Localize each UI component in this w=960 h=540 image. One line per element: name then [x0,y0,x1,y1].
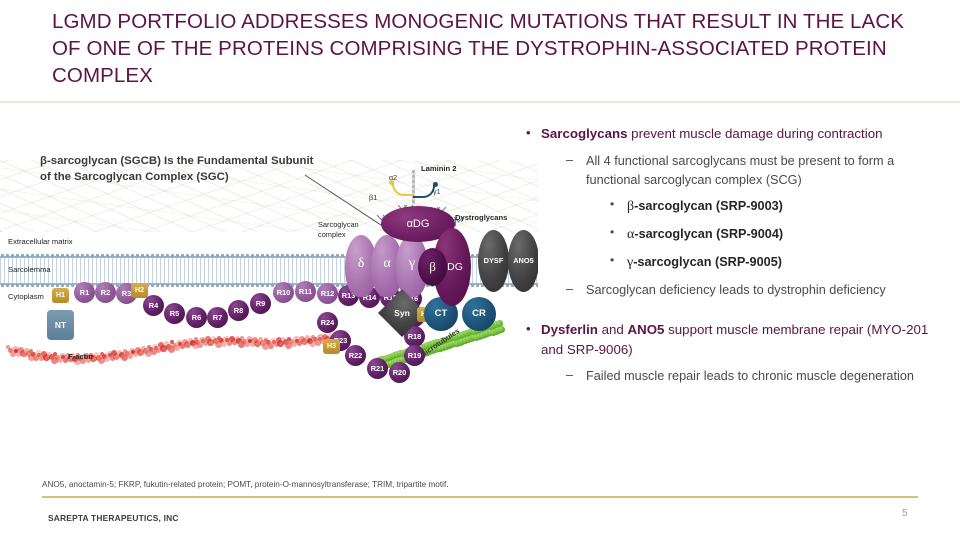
bullet-sarcoglycans-function: Sarcoglycans prevent muscle damage durin… [524,124,948,144]
page-title: LGMD PORTFOLIO ADDRESSES MONOGENIC MUTAT… [52,8,932,89]
dystrophin-repeat-r9: R9 [250,293,271,314]
anoctamin5-protein: ANO5 [508,230,538,292]
bullet-lead-sarcoglycans: Sarcoglycans [541,126,627,141]
bullet-lead-dysferlin: Dysferlin [541,322,598,337]
syntrophin-label: Syn [385,296,419,330]
dystrophin-repeat-r8: R8 [228,300,249,321]
dystrophin-repeat-r20: R20 [389,362,410,383]
dystrophin-repeat-r4: R4 [143,295,164,316]
bullet-text-sarcoglycans: prevent muscle damage during contraction [627,126,882,141]
sarcolemma-label: Sarcolemma [8,265,51,274]
dystrophin-repeat-r5: R5 [164,303,185,324]
bullet-text-srp-9003: -sarcoglycan (SRP-9003) [634,199,783,213]
dystrophin-n-terminus: NT [47,310,74,340]
dystrophin-repeat-r2: R2 [95,282,116,303]
dapc-diagram: β-sarcoglycan (SGCB) Is the Fundamental … [0,140,538,390]
dystrophin-repeat-r19: R19 [404,345,425,366]
bullet-spacer [524,307,948,320]
dystrophin-repeat-r21: R21 [367,358,388,379]
dystrophin-hinge-h3: H3 [323,339,340,354]
dystrophin-hinge-h1: H1 [52,288,69,303]
bullet-dysferlin-ano5: Dysferlin and ANO5 support muscle membra… [524,320,948,359]
laminin-alpha2-label: α2 [389,173,397,182]
dystrophin-repeat-r1: R1 [74,282,95,303]
dystrophin-repeat-r22: R22 [345,345,366,366]
bullet-lead-ano5: ANO5 [627,322,664,337]
dystrophin-repeat-r7: R7 [207,307,228,328]
dystrophin-repeat-r24: R24 [317,312,338,333]
laminin-label: Laminin 2 [421,164,456,173]
f-actin-label: F-actin [68,352,93,361]
bullet-text-srp-9005: -sarcoglycan (SRP-9005) [633,255,782,269]
page-number: 5 [902,508,908,519]
figure-caption: β-sarcoglycan (SGCB) Is the Fundamental … [40,154,320,185]
cytoplasm-label: Cytoplasm [8,292,44,301]
laminin-beta1-label: β1 [369,193,377,202]
dystrophin-cr-domain: CR [462,297,496,331]
bullet-srp-9003: β-sarcoglycan (SRP-9003) [608,197,948,216]
bullet-failed-repair: Failed muscle repair leads to chronic mu… [566,367,948,386]
dysferlin-protein: DYSF [478,230,509,292]
dystrophin-hinge-h2: H2 [131,283,148,298]
footer-divider [42,496,918,498]
bullet-srp-9005: γ-sarcoglycan (SRP-9005) [608,253,948,272]
dystrophin-repeat-r10: R10 [273,282,294,303]
actin-monomer [186,343,190,347]
dystroglycans-label: Dystroglycans [455,213,507,222]
bullet-text-srp-9004: -sarcoglycan (SRP-9004) [634,227,783,241]
bullet-deficiency-dystrophin: Sarcoglycan deficiency leads to dystroph… [566,281,948,300]
bullet-srp-9004: α-sarcoglycan (SRP-9004) [608,225,948,244]
bullet-all-four-required: All 4 functional sarcoglycans must be pr… [566,152,948,190]
dystrophin-repeat-r12: R12 [317,283,338,304]
bullet-mid-and: and [598,322,628,337]
dystrophin-repeat-r11: R11 [295,281,316,302]
microtubule-subunit [498,326,505,333]
beta-sarcoglycan: β [418,248,447,286]
extracellular-matrix-label: Extracellular matrix [8,237,73,246]
footer-company-name: SAREPTA THERAPEUTICS, INC [48,513,179,523]
bullet-list: Sarcoglycans prevent muscle damage durin… [524,124,948,393]
slide: LGMD PORTFOLIO ADDRESSES MONOGENIC MUTAT… [0,0,960,540]
dystrophin-repeat-r6: R6 [186,307,207,328]
laminin-gamma1-label: γ1 [433,187,441,196]
title-divider [0,101,960,103]
actin-monomer [22,353,26,357]
footnote: ANO5, anoctamin-5; FKRP, fukutin-related… [42,480,742,489]
